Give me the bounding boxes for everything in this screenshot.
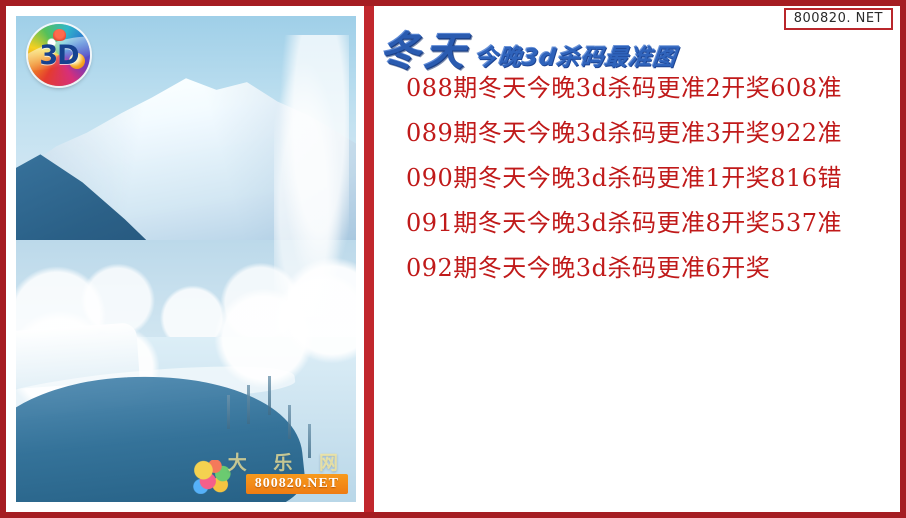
page-title: 冬天	[378, 32, 472, 72]
list-item: 092期冬天今晚3d杀码更准6开奖	[378, 256, 892, 280]
winter-photo: 3D 大 乐 网 800820.NET	[16, 16, 356, 502]
list-item: 091期冬天今晚3d杀码更准8开奖537准	[378, 211, 892, 235]
list-item: 088期冬天今晚3d杀码更准2开奖608准	[378, 76, 892, 100]
page-subtitle: 今晚3d杀码最准图	[473, 47, 678, 70]
watermark-site-name: 大 乐 网	[228, 448, 348, 475]
page-frame: 3D 大 乐 网 800820.NET 冬天 今晚3d杀码最准图 088期冬天今…	[0, 0, 906, 518]
watermark-url: 800820.NET	[246, 474, 348, 494]
photo-fence-post	[247, 385, 250, 424]
photo-tree-cluster	[288, 230, 356, 376]
prediction-list: 088期冬天今晚3d杀码更准2开奖608准 089期冬天今晚3d杀码更准3开奖9…	[378, 76, 892, 301]
photo-fence-post	[227, 395, 230, 429]
panel-divider	[364, 6, 374, 518]
photo-watermark: 大 乐 网 800820.NET	[182, 448, 350, 496]
list-item: 089期冬天今晚3d杀码更准3开奖922准	[378, 121, 892, 145]
logo-label: 3D	[28, 24, 90, 86]
photo-fence-post	[288, 405, 291, 439]
list-item: 090期冬天今晚3d杀码更准1开奖816错	[378, 166, 892, 190]
3d-logo-icon: 3D	[28, 24, 90, 86]
content-panel: 冬天 今晚3d杀码最准图 088期冬天今晚3d杀码更准2开奖608准 089期冬…	[378, 14, 900, 514]
photo-fence-post	[268, 376, 271, 415]
site-badge: 800820. NET	[784, 8, 893, 30]
